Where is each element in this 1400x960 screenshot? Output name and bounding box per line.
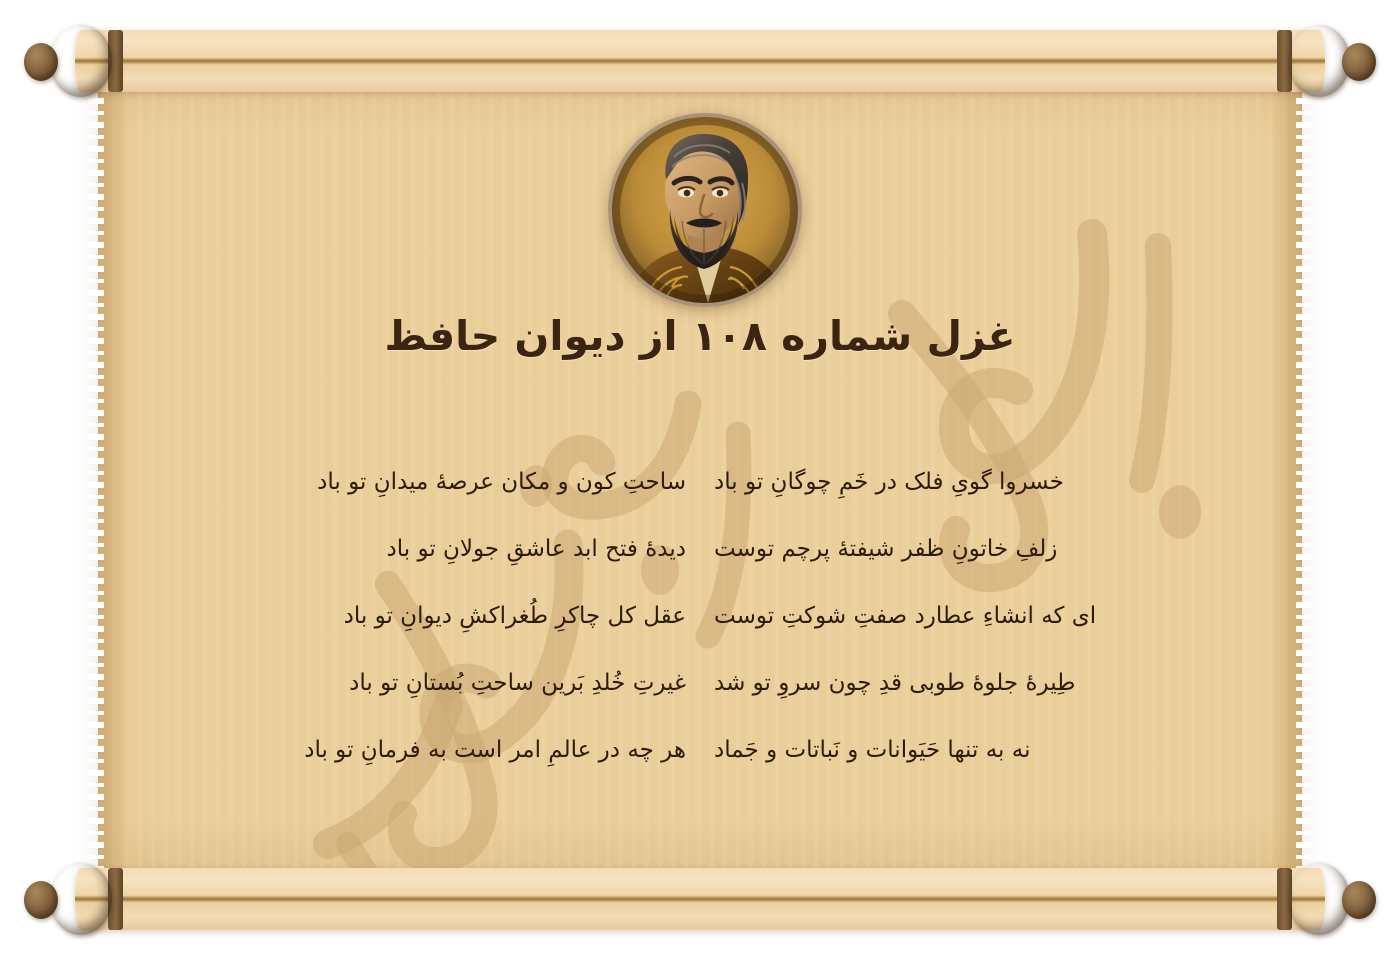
poem-body: خسروا گویِ فلک در خَمِ چوگانِ تو باد ساح… [130,448,1270,783]
hemistich-first: طِیرهٔ جلوهٔ طوبی قدِ چون سروِ تو شد [700,670,1270,696]
roller-finial-bottom-right [1248,860,1378,938]
finial-knob-small [1342,881,1376,919]
hemistich-first: زلفِ خاتونِ ظفر شیفتهٔ پرچم توست [700,536,1270,562]
hemistich-first: خسروا گویِ فلک در خَمِ چوگانِ تو باد [700,469,1270,495]
finial-knob-large [50,25,112,97]
hemistich-second: دیدهٔ فتح ابد عاشقِ جولانِ تو باد [130,536,700,562]
page-title: غزل شماره ۱۰۸ از دیوان حافظ [0,312,1400,360]
roller-finial-bottom-left [22,860,152,938]
couplet-row: زلفِ خاتونِ ظفر شیفتهٔ پرچم توست دیدهٔ ف… [130,515,1270,582]
couplet-row: نه به تنها حَیَوانات و نَباتات و جَماد ه… [130,716,1270,783]
hemistich-first: ای که انشاءِ عطارد صفتِ شوکتِ توست [700,603,1270,629]
hemistich-second: غیرتِ خُلدِ بَرین ساحتِ بُستانِ تو باد [130,670,700,696]
torn-edge-right [1296,74,1312,872]
couplet-row: ای که انشاءِ عطارد صفتِ شوکتِ توست عقل ک… [130,582,1270,649]
finial-knob-large [50,863,112,935]
scroll-roller-top [75,30,1325,92]
finial-knob-small [24,43,58,81]
couplet-row: طِیرهٔ جلوهٔ طوبی قدِ چون سروِ تو شد غیر… [130,649,1270,716]
roller-finial-top-left [22,22,152,100]
portrait-image [612,117,798,303]
hemistich-second: عقل کل چاکرِ طُغراکشِ دیوانِ تو باد [130,603,700,629]
torn-edge-left [88,74,104,872]
roller-finial-top-right [1248,22,1378,100]
hemistich-second: هر چه در عالمِ امر است به فرمانِ تو باد [130,737,700,763]
scroll-roller-bottom [75,868,1325,930]
finial-knob-large [1288,863,1350,935]
finial-knob-small [24,881,58,919]
finial-knob-large [1288,25,1350,97]
hemistich-first: نه به تنها حَیَوانات و نَباتات و جَماد [700,737,1270,763]
finial-knob-small [1342,43,1376,81]
couplet-row: خسروا گویِ فلک در خَمِ چوگانِ تو باد ساح… [130,448,1270,515]
hemistich-second: ساحتِ کون و مکان عرصهٔ میدانِ تو باد [130,469,700,495]
scroll-stage: غزل شماره ۱۰۸ از دیوان حافظ خسروا گویِ ف… [0,0,1400,960]
hafez-portrait-medallion [608,113,802,307]
